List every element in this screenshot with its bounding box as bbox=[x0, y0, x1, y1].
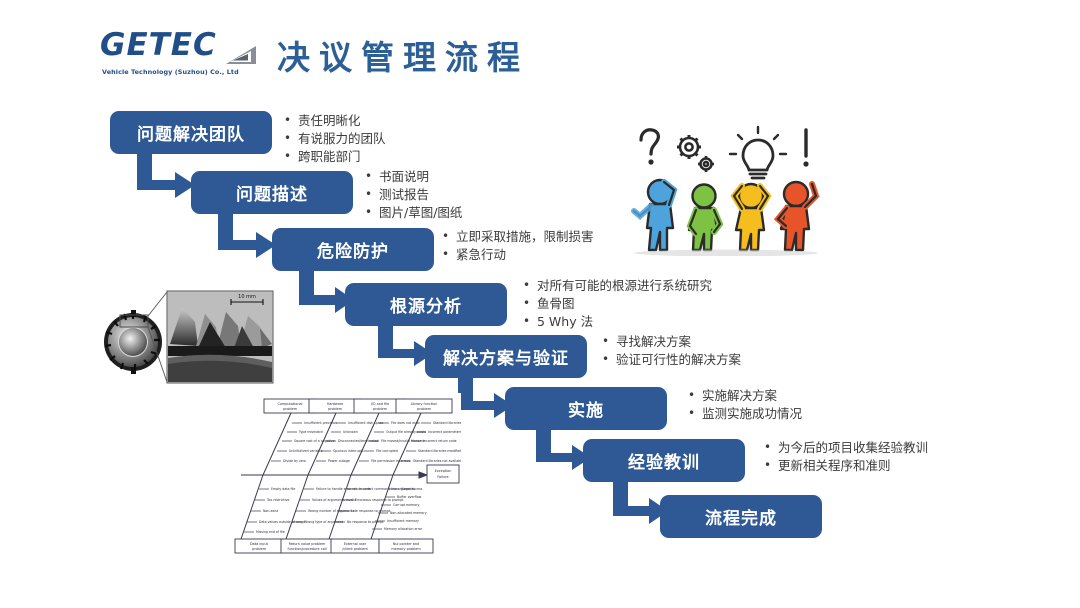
svg-text:Type mismatch: Type mismatch bbox=[298, 430, 323, 434]
bullet-item: 图片/草图/图纸 bbox=[363, 204, 462, 222]
connector-arrow-7-to-8 bbox=[613, 482, 671, 524]
person-figure-blue bbox=[634, 180, 674, 250]
svg-text:Spurious interrupts: Spurious interrupts bbox=[333, 449, 364, 453]
bullet-item: 寻找解决方案 bbox=[600, 333, 741, 351]
svg-text:Incorrect return code: Incorrect return code bbox=[423, 439, 457, 443]
flow-box-label: 流程完成 bbox=[705, 504, 777, 529]
logo-tagline: Vehicle Technology (Suzhou) Co., Ltd bbox=[102, 68, 239, 76]
connector-arrow-2-to-3 bbox=[218, 214, 280, 258]
svg-text:Insufficient memory: Insufficient memory bbox=[387, 519, 419, 523]
svg-text:Values of arguments invalid: Values of arguments invalid bbox=[312, 498, 356, 502]
connector-arrow-5-to-6 bbox=[458, 378, 516, 418]
bullet-item: 为今后的项目收集经验教训 bbox=[762, 439, 928, 457]
svg-text:Output file already exists: Output file already exists bbox=[386, 430, 426, 434]
svg-text:Standard libraries modified: Standard libraries modified bbox=[418, 449, 461, 453]
bullets-step-3: 立即采取措施，限制损害 紧急行动 bbox=[440, 228, 594, 264]
bullet-item: 对所有可能的根源进行系统研究 bbox=[521, 277, 712, 295]
svg-text:Late response to prompt: Late response to prompt bbox=[351, 509, 391, 513]
question-mark-icon bbox=[641, 130, 658, 165]
flow-box-step-2[interactable]: 问题描述 bbox=[191, 171, 353, 214]
svg-text:problem: problem bbox=[283, 407, 298, 411]
svg-text:Corrupt memory: Corrupt memory bbox=[393, 503, 419, 507]
scale-label: 10 mm bbox=[238, 294, 256, 300]
flow-box-step-4[interactable]: 根源分析 bbox=[345, 283, 507, 326]
connector-arrow-1-to-2 bbox=[137, 154, 199, 198]
flow-box-step-3[interactable]: 危险防护 bbox=[272, 228, 434, 271]
svg-text:Data values outside of range: Data values outside of range bbox=[259, 520, 305, 524]
flow-box-label: 根源分析 bbox=[390, 292, 462, 317]
bullet-item: 监测实施成功情况 bbox=[686, 405, 802, 423]
svg-text:problem: problem bbox=[417, 407, 432, 411]
svg-text:problem: problem bbox=[328, 407, 343, 411]
svg-text:File corrupted: File corrupted bbox=[376, 449, 398, 453]
flow-box-step-8[interactable]: 流程完成 bbox=[660, 495, 822, 538]
bullet-item: 实施解决方案 bbox=[686, 387, 802, 405]
flow-box-step-6[interactable]: 实施 bbox=[505, 387, 667, 430]
bullets-step-2: 书面说明 测试报告 图片/草图/图纸 bbox=[363, 168, 462, 222]
bullet-item: 测试报告 bbox=[363, 186, 462, 204]
svg-text:File moved/invalid filename: File moved/invalid filename bbox=[381, 439, 425, 443]
svg-text:Empty data file: Empty data file bbox=[271, 487, 295, 491]
svg-text:Unknown: Unknown bbox=[343, 430, 358, 434]
svg-text:Computational: Computational bbox=[278, 402, 303, 406]
svg-text:Non-allocated memory: Non-allocated memory bbox=[390, 511, 427, 515]
person-figure-orange bbox=[778, 182, 816, 250]
svg-text:Buffer overflow: Buffer overflow bbox=[397, 495, 422, 499]
bullets-step-5: 寻找解决方案 验证可行性的解决方案 bbox=[600, 333, 741, 369]
svg-text:Standard libraries not availab: Standard libraries not available bbox=[433, 421, 461, 425]
svg-text:Illegal access: Illegal access bbox=[401, 487, 423, 491]
bullet-item: 责任明晰化 bbox=[282, 112, 386, 130]
gears-icon bbox=[677, 135, 714, 172]
bullets-step-7: 为今后的项目收集经验教训 更新相关程序和准则 bbox=[762, 439, 928, 475]
fishbone-diagram-image: Computationalproblem Hardwareproblem I/O… bbox=[233, 393, 461, 556]
svg-text:Power outage: Power outage bbox=[328, 459, 350, 463]
bullet-item: 跨职能部门 bbox=[282, 148, 386, 166]
svg-text:Insufficient disk space: Insufficient disk space bbox=[348, 421, 383, 425]
magnified-tooth-photo: 10 mm bbox=[167, 291, 273, 383]
svg-text:Insufficient precision: Insufficient precision bbox=[304, 421, 337, 425]
page-title: 决议管理流程 bbox=[277, 31, 529, 79]
flow-box-step-1[interactable]: 问题解决团队 bbox=[110, 111, 272, 154]
person-figure-green bbox=[689, 185, 720, 251]
svg-text:File permission incorrect: File permission incorrect bbox=[371, 459, 411, 463]
svg-text:memory problem: memory problem bbox=[391, 547, 421, 551]
svg-text:No response to prompt: No response to prompt bbox=[347, 520, 384, 524]
flow-box-step-5[interactable]: 解决方案与验证 bbox=[425, 335, 587, 378]
svg-text:Failure: Failure bbox=[437, 475, 448, 479]
svg-text:Library function: Library function bbox=[411, 402, 438, 406]
svg-text:File does not exist: File does not exist bbox=[391, 421, 421, 425]
svg-text:Wrong type of argument: Wrong type of argument bbox=[304, 520, 344, 524]
bullet-item: 书面说明 bbox=[363, 168, 462, 186]
svg-text:Non-exist: Non-exist bbox=[263, 509, 279, 513]
bullet-item: 紧急行动 bbox=[440, 246, 594, 264]
bullet-item: 更新相关程序和准则 bbox=[762, 457, 928, 475]
svg-text:Square root of a negative: Square root of a negative bbox=[294, 439, 335, 443]
logo-swoosh-icon bbox=[224, 44, 258, 66]
flow-box-label: 问题描述 bbox=[236, 180, 308, 205]
svg-text:problem: problem bbox=[252, 547, 267, 551]
flow-box-label: 解决方案与验证 bbox=[443, 344, 569, 369]
bullet-item: 5 Why 法 bbox=[521, 313, 712, 331]
bullets-step-4: 对所有可能的根源进行系统研究 鱼骨图 5 Why 法 bbox=[521, 277, 712, 331]
flow-box-label: 问题解决团队 bbox=[137, 120, 245, 145]
svg-text:Data input: Data input bbox=[250, 542, 269, 546]
flow-box-label: 经验教训 bbox=[628, 448, 700, 473]
four-people-illustration bbox=[626, 124, 834, 256]
connector-arrow-6-to-7 bbox=[536, 430, 594, 470]
gear-tooth-photo: 10 mm bbox=[102, 282, 274, 387]
svg-text:function/procedure call: function/procedure call bbox=[287, 547, 326, 551]
bullet-item: 验证可行性的解决方案 bbox=[600, 351, 741, 369]
company-logo: GETEC Vehicle Technology (Suzhou) Co., L… bbox=[100, 30, 260, 78]
svg-text:External user: External user bbox=[344, 542, 367, 546]
svg-text:Missing end of file: Missing end of file bbox=[256, 530, 285, 534]
svg-text:I/O and file: I/O and file bbox=[371, 402, 390, 406]
flow-box-label: 危险防护 bbox=[317, 237, 389, 262]
svg-text:Wrong number of arguments: Wrong number of arguments bbox=[308, 509, 354, 513]
svg-text:Standard libraries not availab: Standard libraries not available bbox=[413, 459, 461, 463]
connector-arrow-4-to-5 bbox=[378, 326, 436, 366]
slide-root: { "header": { "logo_wordmark": "GETEC", … bbox=[0, 0, 1080, 608]
bullet-item: 鱼骨图 bbox=[521, 295, 712, 313]
svg-text:Uninitialized variable: Uninitialized variable bbox=[289, 449, 323, 453]
svg-text:Divide by zero: Divide by zero bbox=[283, 459, 306, 463]
flow-box-label: 实施 bbox=[568, 396, 604, 421]
svg-text:Nul pointer and: Nul pointer and bbox=[393, 542, 419, 546]
lightbulb-icon bbox=[730, 127, 786, 178]
bullets-step-1: 责任明晰化 有说服力的团队 跨职能部门 bbox=[282, 112, 386, 166]
svg-text:Exception: Exception bbox=[435, 469, 452, 473]
svg-text:Disconnected/terminated: Disconnected/terminated bbox=[338, 439, 378, 443]
bullet-item: 立即采取措施，限制损害 bbox=[440, 228, 594, 246]
person-figure-yellow bbox=[734, 184, 768, 250]
svg-text:Memory allocation error: Memory allocation error bbox=[384, 527, 423, 531]
svg-text:Return value problem: Return value problem bbox=[289, 542, 326, 546]
connector-arrow-3-to-4 bbox=[299, 271, 357, 313]
svg-text:Hardware: Hardware bbox=[327, 402, 343, 406]
svg-text:Incorrect parameters: Incorrect parameters bbox=[428, 430, 461, 434]
flow-box-step-7[interactable]: 经验教训 bbox=[583, 439, 745, 482]
svg-text:/client problem: /client problem bbox=[342, 547, 368, 551]
svg-text:problem: problem bbox=[373, 407, 388, 411]
svg-text:Too restrictive: Too restrictive bbox=[266, 498, 289, 502]
bullets-step-6: 实施解决方案 监测实施成功情况 bbox=[686, 387, 802, 423]
exclamation-mark-icon bbox=[803, 130, 808, 167]
bullet-item: 有说服力的团队 bbox=[282, 130, 386, 148]
